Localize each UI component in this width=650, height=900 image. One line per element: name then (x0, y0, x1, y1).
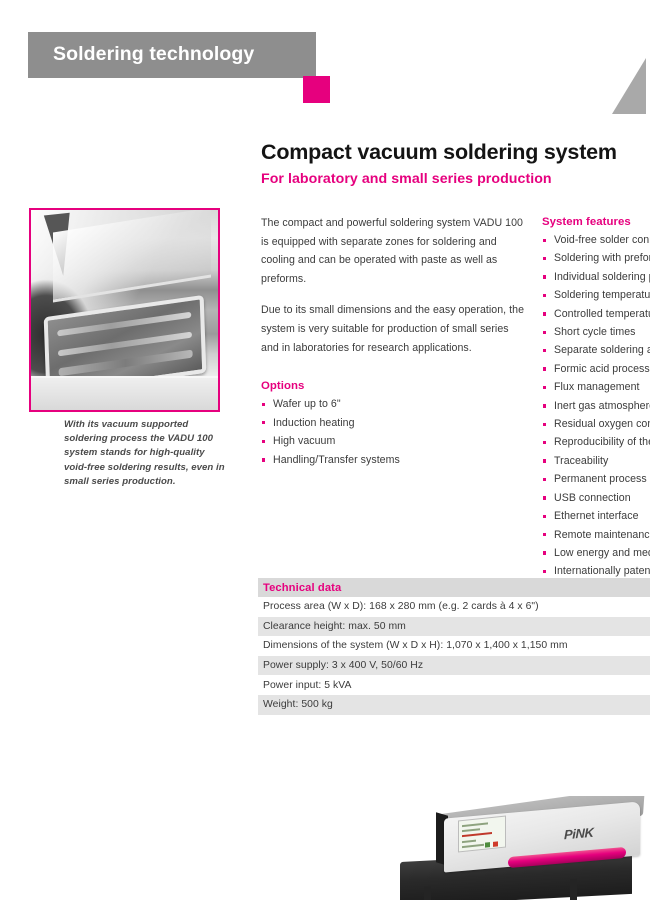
screen-line (462, 844, 484, 848)
intro-paragraph-2: Due to its small dimensions and the easy… (261, 301, 529, 357)
technical-data-header: Technical data (258, 578, 650, 597)
technical-data-table: Technical data Process area (W x D): 168… (258, 578, 650, 715)
list-item: Individual soldering profiles (542, 268, 650, 286)
section-banner-label: Soldering technology (53, 43, 254, 66)
control-panel-screen (458, 815, 506, 852)
list-item: Flux management (542, 378, 650, 396)
screen-line (462, 822, 488, 827)
page-subtitle: For laboratory and small series producti… (261, 171, 552, 187)
options-heading: Options (261, 380, 529, 392)
list-item: Soldering temperature up to 450 °C (542, 286, 650, 304)
technical-data-heading: Technical data (263, 582, 341, 594)
table-row: Power input: 5 kVA (258, 675, 650, 695)
table-row: Power supply: 3 x 400 V, 50/60 Hz (258, 656, 650, 676)
options-block: Options Wafer up to 6" Induction heating… (261, 380, 529, 469)
list-item: Traceability (542, 452, 650, 470)
list-item: Remote maintenance (542, 526, 650, 544)
list-item: Void-free solder connections (542, 231, 650, 249)
cart-leg (570, 879, 577, 900)
list-item: Short cycle times (542, 323, 650, 341)
system-features-heading: System features (542, 216, 650, 228)
options-list: Wafer up to 6" Induction heating High va… (261, 395, 529, 469)
machine-photo: PiNK (392, 796, 650, 900)
list-item: USB connection (542, 489, 650, 507)
chamber-lid (53, 208, 211, 303)
list-item: Handling/Transfer systems (261, 451, 529, 470)
list-item: Ethernet interface (542, 507, 650, 525)
list-item: Controlled temperature gradients (542, 305, 650, 323)
brand-logo: PiNK (564, 825, 593, 843)
page-title: Compact vacuum soldering system (261, 140, 617, 165)
list-item: Low energy and media consumption (542, 544, 650, 562)
corner-wedge-decoration (612, 58, 650, 114)
list-item: Formic acid process (542, 360, 650, 378)
tray-rail (57, 312, 191, 337)
list-item: Induction heating (261, 414, 529, 433)
list-item: Reproducibility of the process (542, 433, 650, 451)
brochure-page: Soldering technology Compact vacuum sold… (0, 0, 650, 900)
table-row: Dimensions of the system (W x D x H): 1,… (258, 636, 650, 656)
list-item: Permanent process monitoring (542, 470, 650, 488)
screen-indicator (485, 842, 490, 848)
screen-line (462, 832, 492, 837)
photo-caption: With its vacuum supported soldering proc… (64, 418, 226, 489)
accent-square (303, 76, 330, 103)
table-row: Weight: 500 kg (258, 695, 650, 715)
list-item: Separate soldering and cooling zones (542, 341, 650, 359)
list-item: Residual oxygen control (542, 415, 650, 433)
screen-line (462, 828, 480, 832)
screen-indicator (493, 841, 498, 847)
screen-line (462, 840, 476, 843)
cart-leg (424, 886, 431, 900)
tray-rail (59, 350, 193, 377)
table-row: Clearance height: max. 50 mm (258, 617, 650, 637)
product-photo (29, 208, 220, 412)
list-item: Wafer up to 6" (261, 395, 529, 414)
table-row: Process area (W x D): 168 x 280 mm (e.g.… (258, 597, 650, 617)
intro-paragraph-1: The compact and powerful soldering syste… (261, 214, 529, 288)
list-item: Soldering with preforms or paste (542, 249, 650, 267)
list-item: High vacuum (261, 432, 529, 451)
system-features-block: System features Void-free solder connect… (542, 216, 650, 581)
intro-text-column: The compact and powerful soldering syste… (261, 214, 529, 357)
list-item: Inert gas atmosphere (542, 397, 650, 415)
photo-image (31, 210, 218, 410)
system-features-list: Void-free solder connections Soldering w… (542, 231, 650, 581)
machine-base (31, 376, 218, 410)
section-banner: Soldering technology (28, 32, 316, 78)
